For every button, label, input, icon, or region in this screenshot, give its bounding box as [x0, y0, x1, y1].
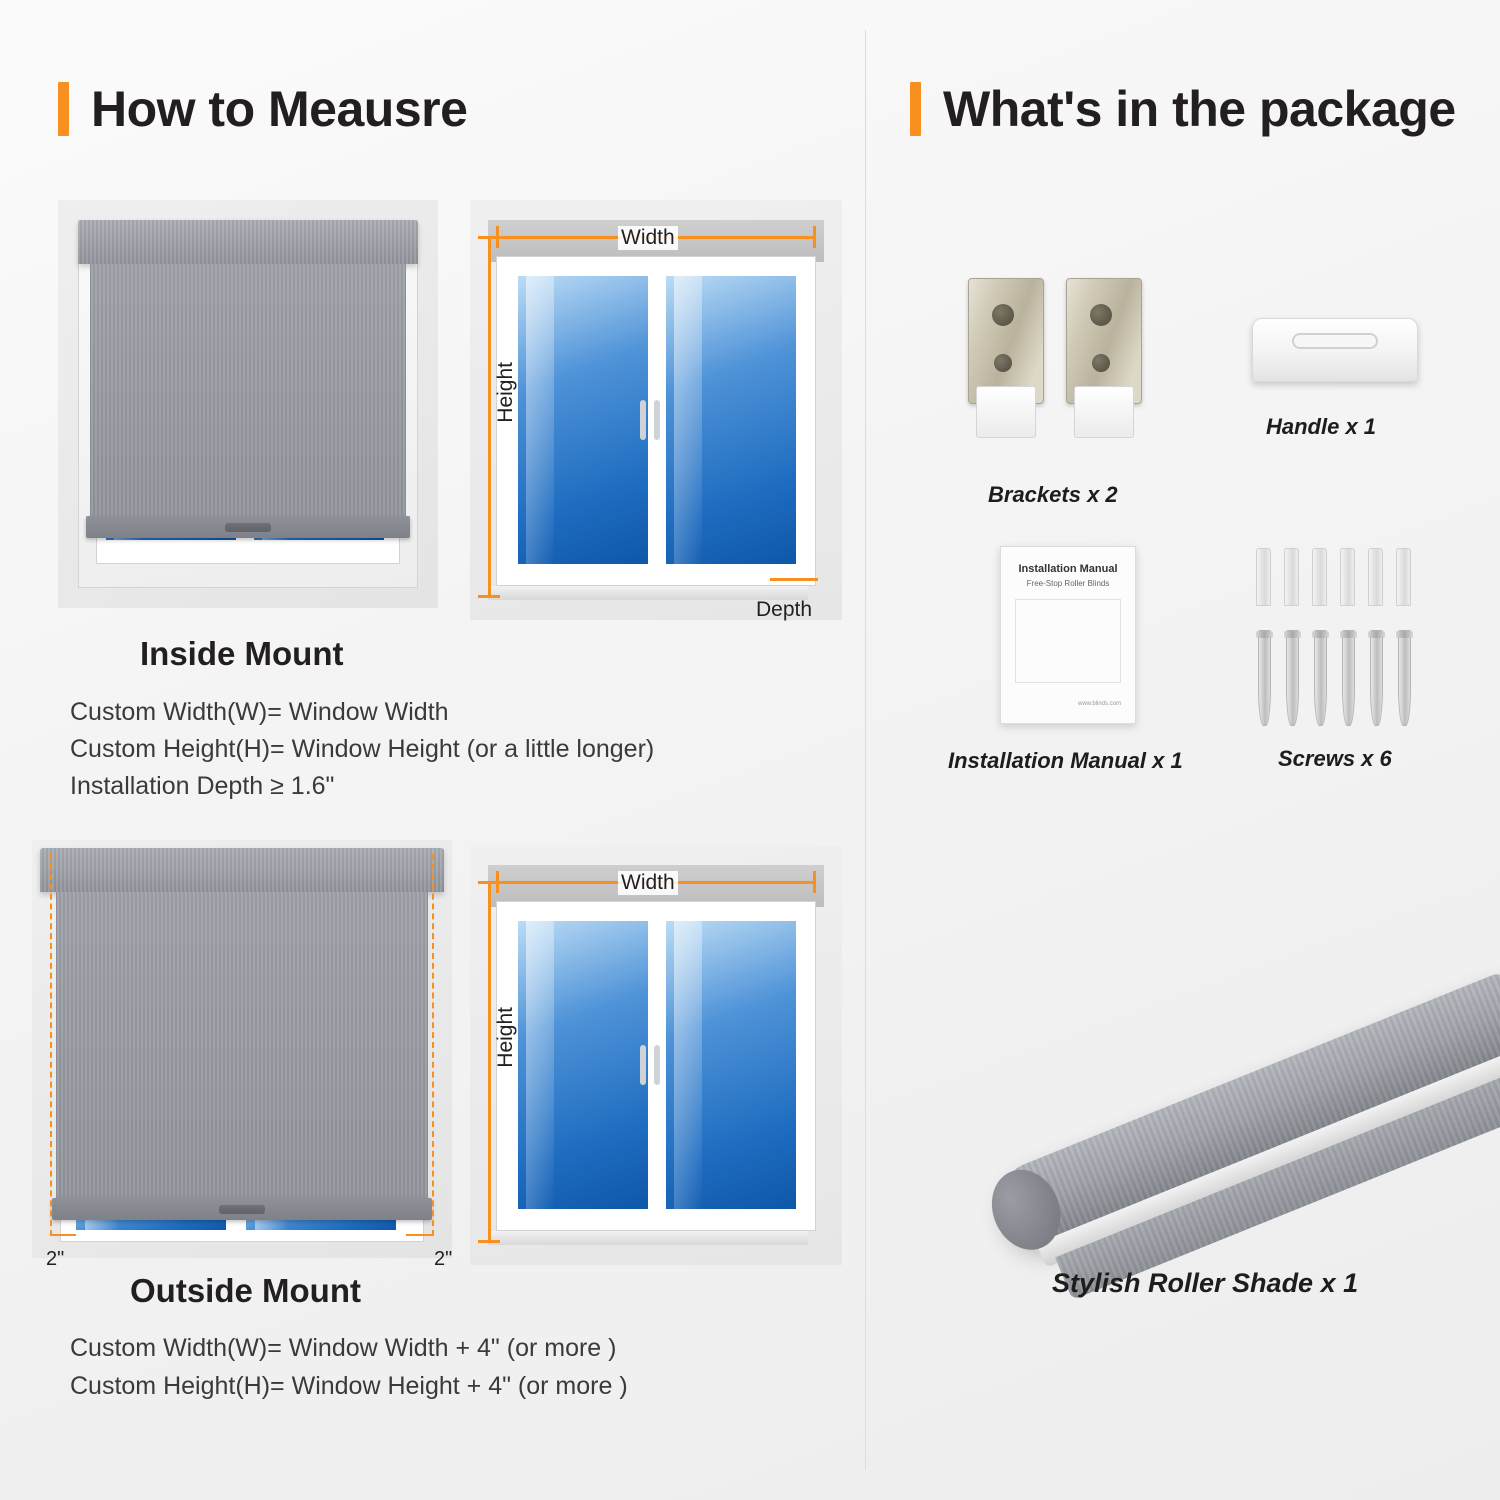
screws-group: [1252, 548, 1432, 728]
window-handle-right: [654, 400, 660, 440]
height-tick-top: [478, 236, 500, 239]
width-label-2: Width: [618, 871, 678, 895]
outside-bullet-1: Custom Width(W)= Window Width + 4" (or m…: [70, 1334, 616, 1363]
depth-measure-line: [770, 578, 818, 581]
shade-valance-2: [40, 848, 444, 892]
screw-1: [1258, 630, 1271, 726]
anchor-5: [1368, 548, 1383, 606]
window-handle-left-2: [640, 1045, 646, 1085]
height-tick-top-2: [478, 881, 500, 884]
overhang-guide-right: [432, 854, 434, 1236]
overhang-guide-left: [50, 854, 52, 1236]
bracket-1-plastic: [976, 386, 1036, 438]
inside-mount-photo: [58, 200, 438, 608]
right-section-heading: What's in the package: [910, 80, 1456, 138]
left-section-heading: How to Meausre: [58, 80, 467, 138]
anchor-4: [1340, 548, 1355, 606]
screw-3: [1314, 630, 1327, 726]
roller-shade-part: [985, 970, 1500, 1180]
width-tick-right: [813, 226, 816, 248]
height-label-2: Height: [494, 1007, 518, 1068]
infographic-page: How to Meausre Width: [0, 0, 1500, 1500]
overhang-label-left: 2": [46, 1248, 64, 1271]
outside-mount-title: Outside Mount: [130, 1272, 361, 1310]
height-measure-line: [488, 236, 491, 598]
shade-fabric: [90, 264, 406, 518]
manual-illustration-box: [1015, 599, 1121, 683]
roller-shade-label: Stylish Roller Shade x 1: [1052, 1268, 1358, 1299]
handle-slot: [1292, 333, 1378, 349]
overhang-line-left: [50, 1234, 76, 1236]
manual-subtitle: Free-Stop Roller Blinds: [1001, 579, 1135, 588]
height-measure-line-2: [488, 881, 491, 1243]
bracket-1-hole-2: [994, 354, 1012, 372]
inside-bullet-3: Installation Depth ≥ 1.6": [70, 772, 334, 801]
installation-manual-label: Installation Manual x 1: [948, 748, 1183, 774]
handle-label: Handle x 1: [1266, 414, 1376, 440]
screws-label: Screws x 6: [1278, 746, 1392, 772]
depth-label: Depth: [756, 598, 812, 622]
manual-footer: www.blinds.com: [1078, 701, 1121, 707]
inside-mount-title: Inside Mount: [140, 635, 343, 673]
brackets-group: [962, 278, 1162, 458]
column-divider: [865, 30, 866, 1470]
anchor-3: [1312, 548, 1327, 606]
handle-part: [1252, 318, 1418, 382]
outside-mount-photo: [32, 840, 452, 1258]
screw-2: [1286, 630, 1299, 726]
window-handle-left: [640, 400, 646, 440]
bracket-2-hole-2: [1092, 354, 1110, 372]
diagram-glass-left-2: [518, 921, 648, 1209]
shade-grip-2: [219, 1205, 265, 1214]
anchor-6: [1396, 548, 1411, 606]
anchor-1: [1256, 548, 1271, 606]
shade-fabric-2: [56, 892, 428, 1200]
installation-manual-part: Installation Manual Free-Stop Roller Bli…: [1000, 546, 1136, 724]
height-tick-bottom-2: [478, 1240, 500, 1243]
outside-mount-measure-diagram: Width Height: [470, 845, 842, 1265]
manual-title: Installation Manual: [1001, 563, 1135, 575]
outside-bullet-2: Custom Height(H)= Window Height + 4" (or…: [70, 1372, 628, 1401]
height-label: Height: [494, 362, 518, 423]
anchor-2: [1284, 548, 1299, 606]
diagram-glass-right: [666, 276, 796, 564]
inside-mount-measure-diagram: Width Height Depth: [470, 200, 842, 620]
inside-bullet-2: Custom Height(H)= Window Height (or a li…: [70, 735, 654, 764]
shade-grip: [225, 523, 271, 532]
shade-bottom-bar-2: [52, 1198, 432, 1220]
diagram-glass-right-2: [666, 921, 796, 1209]
bracket-2-hole: [1090, 304, 1112, 326]
diagram-glass-left: [518, 276, 648, 564]
right-heading-text: What's in the package: [943, 80, 1456, 138]
width-label: Width: [618, 226, 678, 250]
overhang-label-right: 2": [434, 1248, 452, 1271]
left-heading-text: How to Meausre: [91, 80, 467, 138]
window-handle-right-2: [654, 1045, 660, 1085]
overhang-line-right: [406, 1234, 432, 1236]
accent-bar-left: [58, 82, 69, 136]
accent-bar-right: [910, 82, 921, 136]
inside-bullet-1: Custom Width(W)= Window Width: [70, 698, 449, 727]
shade-bottom-bar: [86, 516, 410, 538]
bracket-1-hole: [992, 304, 1014, 326]
height-tick-bottom: [478, 595, 500, 598]
shade-valance: [78, 220, 418, 264]
screw-4: [1342, 630, 1355, 726]
bracket-2-plastic: [1074, 386, 1134, 438]
brackets-label: Brackets x 2: [988, 482, 1118, 508]
width-tick-right-2: [813, 871, 816, 893]
window-sill-2: [488, 1231, 808, 1245]
screw-5: [1370, 630, 1383, 726]
screw-6: [1398, 630, 1411, 726]
